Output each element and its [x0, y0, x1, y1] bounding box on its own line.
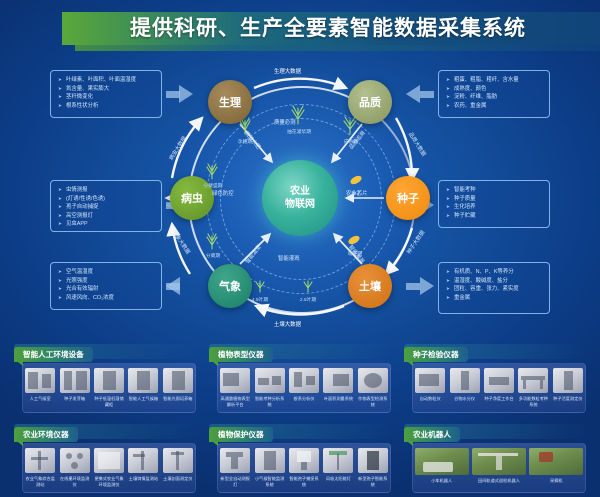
stage-label: 成熟期	[336, 138, 366, 145]
info-item: 农药、重金属	[446, 102, 543, 111]
product-item[interactable]: 智能考种分析系统	[252, 364, 286, 407]
info-box-quality: 粗蛋、粗脂、粗纤、含水量 成熟度、颜色 淀粉、纤维、脂肪 农药、重金属	[438, 70, 550, 118]
section-items: 自动数粒仪 谷物水分仪 种子净度工作台 多功能数粒考种系统 种子活度测定仪	[412, 363, 586, 413]
product-item[interactable]: 新型全自动测报灯	[218, 444, 252, 487]
info-item: 空气温湿度	[58, 268, 155, 277]
product-thumbnail	[472, 448, 526, 475]
section-items: 高通量植物表型解析平台 智能考种分析系统 根系分析仪 叶面积测量系统 作物表型检…	[217, 363, 391, 413]
product-thumbnail	[128, 368, 158, 393]
info-item: 孢子自动捕捉	[58, 203, 155, 212]
info-item: 种子贮藏	[446, 212, 543, 221]
stage-label: 种子	[344, 190, 368, 197]
product-item[interactable]: 种子低温低湿储藏柜	[92, 364, 126, 407]
product-thumbnail	[163, 368, 193, 393]
info-item: 温湿度、酸碱度、盐分	[446, 277, 543, 286]
section-items: 农业气象综合监测站 在线墨环境监测仪 便携式农业气象环境监测仪 土壤墒情监测站 …	[22, 443, 196, 493]
product-section-artificial-environment: 智能人工环境设备 人工气候室 种子发芽箱 种子低温低湿储藏柜 智能人工气候箱 智…	[14, 344, 198, 362]
product-item[interactable]: 自动数粒仪	[413, 364, 447, 402]
product-item[interactable]: 智能孢子捕捉系统	[287, 444, 321, 487]
product-caption: 作物表型检测系统	[356, 396, 390, 407]
header-band-shadow	[75, 45, 600, 51]
product-thumbnail	[94, 448, 124, 473]
stage-label: 分蘖期	[198, 252, 228, 259]
product-section-plant-phenotype: 植物表型仪器 高通量植物表型解析平台 智能考种分析系统 根系分析仪 叶面积测量系…	[209, 344, 393, 362]
product-caption: 种子净度工作台	[482, 396, 516, 402]
product-item[interactable]: 智能光照培养箱	[161, 364, 195, 402]
node-label: 气象	[219, 278, 241, 294]
central-cycle-diagram: 农业 物联网 生理 品质 种子 土壤 气象 病虫 生理大数据 土壤大数据 病虫大…	[150, 58, 450, 336]
product-caption: 便携式农业气象环境监测仪	[92, 476, 126, 487]
poster-background: 提供科研、生产全要素智能数据采集系统 叶绿素、叶面积、叶面温湿度 氮含量、果实膨…	[0, 0, 600, 497]
product-caption: 农业气象综合监测站	[23, 476, 57, 487]
product-caption: 新型全自动测报灯	[218, 476, 252, 487]
product-thumbnail	[163, 448, 193, 473]
product-caption: 人工气候室	[23, 396, 57, 402]
product-caption: 小车机器人	[413, 478, 470, 484]
product-caption: 谷物水分仪	[447, 396, 481, 402]
product-caption: 多功能数粒考种系统	[516, 396, 550, 407]
product-thumbnail	[518, 368, 548, 393]
section-title: 农业机器人	[404, 427, 460, 442]
product-thumbnail	[255, 368, 285, 393]
product-caption: 自动数粒仪	[413, 396, 447, 402]
product-item[interactable]: 土壤墒情监测站	[126, 444, 160, 482]
product-thumbnail	[289, 368, 319, 393]
product-item[interactable]: 智能人工气候箱	[126, 364, 160, 402]
product-item[interactable]: 便携式农业气象环境监测仪	[92, 444, 126, 487]
stage-label: 4.5叶期	[244, 296, 276, 303]
info-item: 光合有效辐射	[58, 285, 155, 294]
product-item[interactable]: 采摘机	[528, 444, 585, 484]
node-label: 品质	[359, 94, 381, 110]
info-item: 粗蛋、粗脂、粗纤、含水量	[446, 76, 543, 85]
section-title: 农业环境仪器	[14, 427, 78, 442]
product-thumbnail	[358, 368, 388, 393]
page-title: 提供科研、生产全要素智能数据采集系统	[68, 14, 588, 44]
product-item[interactable]: 叶面积测量系统	[321, 364, 355, 402]
product-caption: 新型孢子智能系统	[356, 476, 390, 487]
info-item: 有机质、N、P、K等养分	[446, 268, 543, 277]
product-caption: 智能考种分析系统	[252, 396, 286, 407]
info-item: 氮含量、果实膨大	[58, 85, 155, 94]
product-thumbnail	[25, 368, 55, 393]
info-item: 虫情测报	[58, 186, 155, 195]
info-box-physiology: 叶绿素、叶面积、叶面温湿度 氮含量、果实膨大 茎秆微变化 根系性状分析	[50, 70, 162, 118]
stage-label: 萌芽期	[340, 250, 370, 257]
section-title: 植物表型仪器	[209, 347, 273, 362]
section-title: 植物保护仪器	[209, 427, 273, 442]
product-item[interactable]: 高通量植物表型解析平台	[218, 364, 252, 407]
node-label: 种子	[397, 190, 419, 206]
product-caption: 在线墨环境监测仪	[57, 476, 91, 487]
info-item: 种子质量	[446, 195, 543, 204]
spoke-label-pest: 绿色防控	[212, 189, 234, 197]
product-thumbnail	[220, 448, 250, 473]
product-item[interactable]: 小气候智能监测系统	[252, 444, 286, 487]
product-item[interactable]: 风吸太阳能灯	[321, 444, 355, 482]
info-item: 团粒、容重、张力、紧实度	[446, 285, 543, 294]
product-item[interactable]: 种子活度测定仪	[551, 364, 585, 402]
poster-header: 提供科研、生产全要素智能数据采集系统	[0, 8, 600, 48]
node-physiology[interactable]: 生理	[208, 80, 252, 124]
info-item: 智能考种	[446, 186, 543, 195]
product-thumbnail	[220, 368, 250, 393]
product-item[interactable]: 田间轨道式巡检机器人	[470, 444, 527, 484]
product-caption: 小气候智能监测系统	[252, 476, 286, 487]
info-item: 高空测报灯	[58, 212, 155, 221]
info-item: 重金属	[446, 294, 543, 303]
info-box-pest: 虫情测报 (灯诱/性诱/色诱) 孢子自动捕捉 高空测报灯 见虫APP	[50, 180, 162, 232]
info-item: 生化培养	[446, 203, 543, 212]
product-caption: 叶面积测量系统	[321, 396, 355, 402]
product-caption: 采摘机	[528, 478, 585, 484]
section-items: 小车机器人 田间轨道式巡检机器人 采摘机	[412, 443, 586, 493]
product-item[interactable]: 种子发芽箱	[57, 364, 91, 402]
core-label-line1: 农业	[290, 186, 310, 197]
arc-label-bottom: 土壤大数据	[274, 320, 301, 328]
section-items: 人工气候室 种子发芽箱 种子低温低湿储藏柜 智能人工气候箱 智能光照培养箱	[22, 363, 196, 413]
info-box-seed: 智能考种 种子质量 生化培养 种子贮藏	[438, 180, 550, 228]
product-thumbnail	[553, 368, 583, 393]
core-node-iot: 农业 物联网	[262, 160, 338, 236]
section-items: 新型全自动测报灯 小气候智能监测系统 智能孢子捕捉系统 风吸太阳能灯 新型孢子智…	[217, 443, 391, 493]
product-item[interactable]: 农业气象综合监测站	[23, 444, 57, 487]
product-thumbnail	[323, 368, 353, 393]
node-soil[interactable]: 土壤	[348, 264, 392, 308]
product-thumbnail	[255, 448, 285, 473]
product-section-agri-robots: 农业机器人 小车机器人 田间轨道式巡检机器人 采摘机	[404, 424, 588, 442]
product-section-seed-inspection: 种子检验仪器 自动数粒仪 谷物水分仪 种子净度工作台 多功能数粒考种系统 种子活…	[404, 344, 588, 362]
info-item: 淀粉、纤维、脂肪	[446, 93, 543, 102]
product-thumbnail	[484, 368, 514, 393]
product-item[interactable]: 种子净度工作台	[482, 364, 516, 402]
info-item: 根系性状分析	[58, 102, 155, 111]
node-seed[interactable]: 种子	[386, 176, 430, 220]
info-item: 风速风向、CO₂浓度	[58, 294, 155, 303]
product-caption: 种子低温低湿储藏柜	[92, 396, 126, 407]
product-thumbnail	[60, 368, 90, 393]
product-thumbnail	[415, 368, 445, 393]
core-label-line2: 物联网	[285, 199, 315, 210]
section-title: 种子检验仪器	[404, 347, 468, 362]
product-item[interactable]: 根系分析仪	[287, 364, 321, 402]
info-item: 茎秆微变化	[58, 93, 155, 102]
info-item: 叶绿素、叶面积、叶面温湿度	[58, 76, 155, 85]
section-title: 智能人工环境设备	[14, 347, 93, 362]
info-item: 见虫APP	[58, 220, 155, 229]
product-caption: 种子活度测定仪	[551, 396, 585, 402]
product-thumbnail	[415, 448, 469, 475]
info-item-sub: (灯诱/性诱/色诱)	[58, 195, 155, 204]
info-item: 成熟度、颜色	[446, 85, 543, 94]
product-thumbnail	[450, 368, 480, 393]
product-caption: 田间轨道式巡检机器人	[470, 478, 527, 484]
stage-label: 抽花灌浆期	[276, 128, 322, 135]
product-item[interactable]: 新型孢子智能系统	[356, 444, 390, 487]
spoke-label-center-top: 质量必测	[274, 118, 296, 126]
stage-label: 2.5叶期	[292, 296, 324, 303]
product-thumbnail	[94, 368, 124, 393]
node-label: 病虫	[181, 190, 203, 206]
info-box-weather: 空气温湿度 光照强度 光合有效辐射 风速风向、CO₂浓度	[50, 262, 162, 310]
product-section-agro-environment: 农业环境仪器 农业气象综合监测站 在线墨环境监测仪 便携式农业气象环境监测仪 土…	[14, 424, 198, 442]
product-section-plant-protection: 植物保护仪器 新型全自动测报灯 小气候智能监测系统 智能孢子捕捉系统 风吸太阳能…	[209, 424, 393, 442]
product-caption: 智能孢子捕捉系统	[287, 476, 321, 487]
info-item: 光照强度	[58, 277, 155, 286]
product-caption: 高通量植物表型解析平台	[218, 396, 252, 407]
product-thumbnail	[289, 448, 319, 473]
product-caption: 土壤墒情监测站	[126, 476, 160, 482]
product-thumbnail	[25, 448, 55, 473]
product-item[interactable]: 谷物水分仪	[447, 364, 481, 402]
product-thumbnail	[358, 448, 388, 473]
arc-label-top: 生理大数据	[274, 67, 301, 75]
product-caption: 根系分析仪	[287, 396, 321, 402]
stage-label: 孕穗期	[230, 138, 260, 145]
product-caption: 智能光照培养箱	[161, 396, 195, 402]
stage-label: 分蘖盛期	[196, 182, 230, 189]
product-item[interactable]: 多功能数粒考种系统	[516, 364, 550, 407]
product-caption: 土壤剖面测定仪	[161, 476, 195, 482]
product-thumbnail	[529, 448, 583, 475]
product-thumbnail	[323, 448, 353, 473]
product-thumbnail	[128, 448, 158, 473]
node-label: 生理	[219, 94, 241, 110]
product-caption: 种子发芽箱	[57, 396, 91, 402]
product-caption: 风吸太阳能灯	[321, 476, 355, 482]
product-item[interactable]: 人工气候室	[23, 364, 57, 402]
node-quality[interactable]: 品质	[348, 80, 392, 124]
info-box-soil: 有机质、N、P、K等养分 温湿度、酸碱度、盐分 团粒、容重、张力、紧实度 重金属	[438, 262, 550, 314]
node-label: 土壤	[359, 278, 381, 294]
product-caption: 智能人工气候箱	[126, 396, 160, 402]
product-item[interactable]: 小车机器人	[413, 444, 470, 484]
product-thumbnail	[60, 448, 90, 473]
product-item[interactable]: 在线墨环境监测仪	[57, 444, 91, 487]
product-item[interactable]: 土壤剖面测定仪	[161, 444, 195, 482]
spoke-label-irrigation-inner: 智能灌溉	[278, 254, 300, 262]
product-item[interactable]: 作物表型检测系统	[356, 364, 390, 407]
